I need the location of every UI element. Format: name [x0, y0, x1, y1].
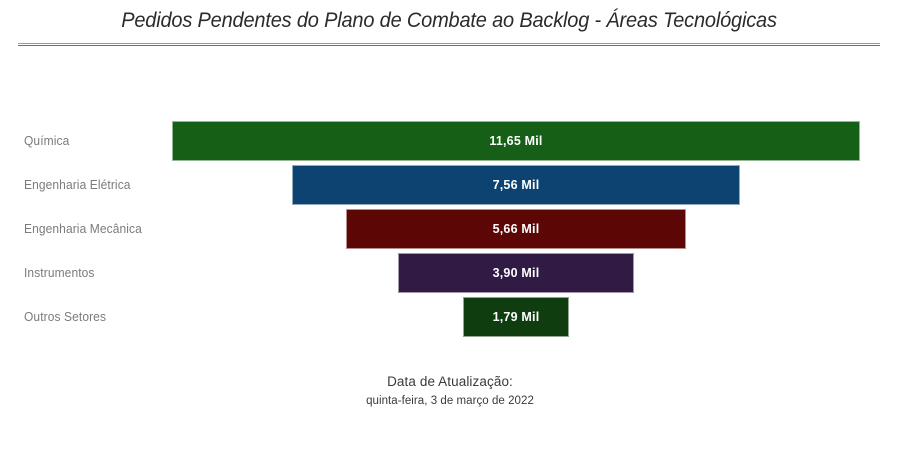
funnel-bar[interactable]: 5,66 Mil: [346, 209, 687, 249]
funnel-category-label: Instrumentos: [24, 252, 95, 294]
funnel-category-label: Química: [24, 120, 69, 162]
funnel-row[interactable]: Engenharia Elétrica 7,56 Mil: [0, 164, 900, 206]
funnel-chart: Química 11,65 Mil Engenharia Elétrica 7,…: [0, 120, 900, 348]
funnel-bar-track: 1,79 Mil: [172, 296, 860, 338]
page-title: Pedidos Pendentes do Plano de Combate ao…: [48, 8, 850, 33]
funnel-category-label: Engenharia Elétrica: [24, 164, 131, 206]
funnel-bar-value: 11,65 Mil: [489, 134, 542, 148]
funnel-bar-track: 5,66 Mil: [172, 208, 860, 250]
update-footer: Data de Atualização: quinta-feira, 3 de …: [0, 374, 900, 407]
funnel-row[interactable]: Outros Setores 1,79 Mil: [0, 296, 900, 338]
funnel-bar-track: 3,90 Mil: [172, 252, 860, 294]
funnel-bar-track: 11,65 Mil: [172, 120, 860, 162]
funnel-row[interactable]: Instrumentos 3,90 Mil: [0, 252, 900, 294]
funnel-bar[interactable]: 1,79 Mil: [463, 297, 569, 337]
funnel-bar-value: 7,56 Mil: [493, 178, 540, 192]
update-label: Data de Atualização:: [0, 374, 900, 389]
funnel-bar[interactable]: 7,56 Mil: [292, 165, 740, 205]
funnel-bar-value: 3,90 Mil: [493, 266, 540, 280]
funnel-category-label: Outros Setores: [24, 296, 106, 338]
chart-header: Pedidos Pendentes do Plano de Combate ao…: [0, 0, 900, 52]
funnel-row[interactable]: Engenharia Mecânica 5,66 Mil: [0, 208, 900, 250]
funnel-row[interactable]: Química 11,65 Mil: [0, 120, 900, 162]
funnel-bar-track: 7,56 Mil: [172, 164, 860, 206]
funnel-category-label: Engenharia Mecânica: [24, 208, 142, 250]
title-divider: [18, 43, 880, 46]
funnel-bar-value: 1,79 Mil: [493, 310, 540, 324]
update-date: quinta-feira, 3 de março de 2022: [0, 395, 900, 407]
funnel-bar[interactable]: 3,90 Mil: [398, 253, 633, 293]
funnel-bar-value: 5,66 Mil: [493, 222, 540, 236]
funnel-bar[interactable]: 11,65 Mil: [172, 121, 860, 161]
